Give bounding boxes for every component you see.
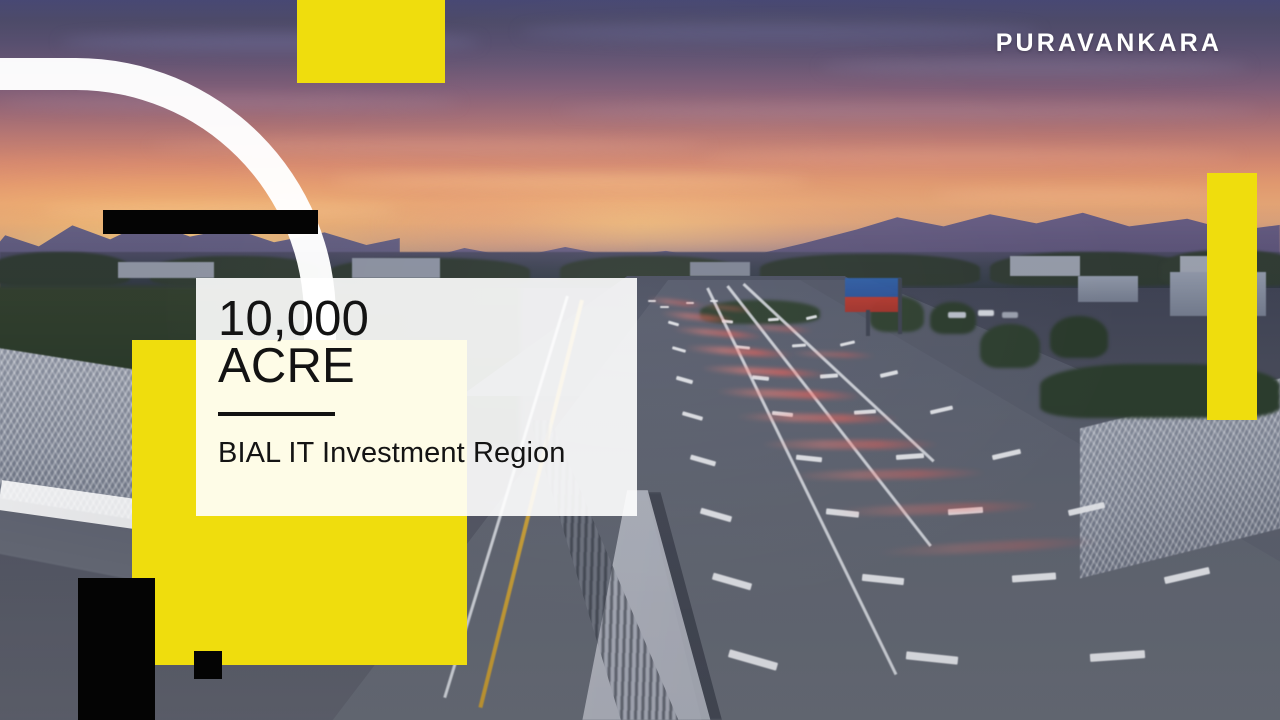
roadside-tree (1050, 316, 1108, 358)
parked-car (1002, 312, 1018, 318)
yellow-block-top (297, 0, 445, 83)
stat-unit: ACRE (218, 343, 637, 390)
distant-building (352, 258, 440, 278)
cloud-streak (330, 176, 810, 186)
cloud-streak (930, 190, 1230, 200)
roadside-tree (980, 324, 1040, 368)
taillight-streak (760, 440, 940, 449)
stat-value: 10,000 (218, 296, 637, 343)
cloud-streak (560, 104, 1260, 118)
distant-building (690, 262, 750, 276)
divider-rule (218, 412, 335, 416)
sign-post (898, 278, 902, 334)
sign-post (866, 310, 870, 336)
brand-logo: PURAVANKARA (996, 31, 1222, 56)
black-rectangle (78, 578, 155, 720)
highway-sign (845, 278, 901, 312)
cloud-streak (820, 60, 1250, 74)
cloud-streak (700, 150, 1240, 162)
roadside-tree (930, 302, 976, 334)
stat-caption: BIAL IT Investment Region (218, 436, 637, 470)
roadside-building (1078, 276, 1138, 302)
parked-car (948, 312, 966, 318)
black-bar (103, 210, 318, 234)
info-card: 10,000 ACRE BIAL IT Investment Region (196, 278, 637, 516)
video-frame: 10,000 ACRE BIAL IT Investment Region PU… (0, 0, 1280, 720)
parked-car (978, 310, 994, 316)
distant-building (1010, 256, 1080, 276)
black-square-small (194, 651, 222, 679)
lane-dash-far (710, 300, 718, 302)
yellow-bar-right (1207, 173, 1257, 420)
lane-dash-far (660, 306, 669, 308)
cloud-streak (520, 22, 1040, 42)
